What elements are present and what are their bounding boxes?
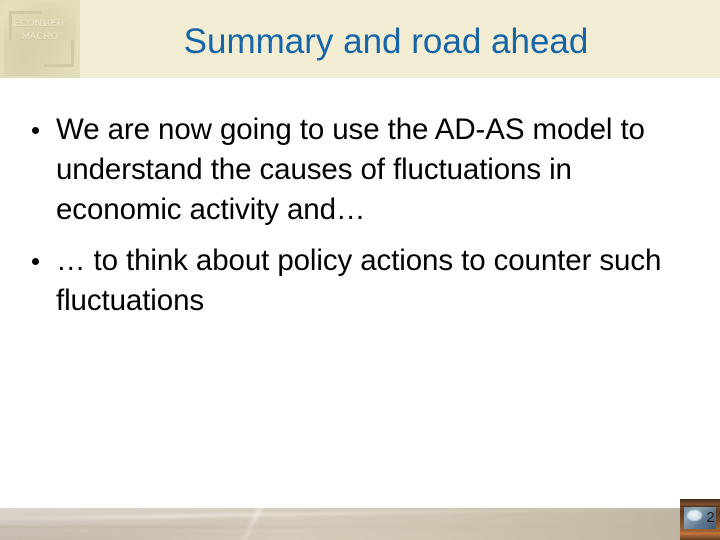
bullet-text: We are now going to use the AD-AS model …: [56, 113, 645, 226]
thumbnail-shelf-top: [680, 499, 720, 507]
slide-title: Summary and road ahead: [86, 20, 686, 68]
course-logo-line-2: MACRO: [0, 30, 80, 43]
logo-bracket-bottom-right-icon: [44, 40, 74, 67]
course-logo-text: ECON1050: MACRO: [0, 17, 80, 43]
slide-number-label: 2: [703, 508, 718, 528]
bullet-dot-icon: [32, 258, 39, 265]
course-logo-block: ECON1050: MACRO: [0, 0, 80, 78]
thumbnail-shelf-bottom: [680, 530, 720, 540]
slide-number-thumbnail: 2: [680, 499, 720, 540]
thumbnail-light-blob: [687, 510, 702, 521]
bullet-item: … to think about policy actions to count…: [24, 241, 700, 321]
slide-body: We are now going to use the AD-AS model …: [24, 110, 700, 332]
course-logo-line-1: ECON1050:: [13, 18, 66, 29]
bullet-item: We are now going to use the AD-AS model …: [24, 110, 700, 230]
slide-footer-image-strip: [0, 508, 720, 540]
presentation-slide: ECON1050: MACRO Summary and road ahead W…: [0, 0, 720, 540]
bullet-text: … to think about policy actions to count…: [56, 244, 661, 317]
footer-strip-shadow-line: [0, 526, 680, 528]
footer-strip-highlight: [0, 508, 720, 521]
bullet-dot-icon: [32, 127, 39, 134]
